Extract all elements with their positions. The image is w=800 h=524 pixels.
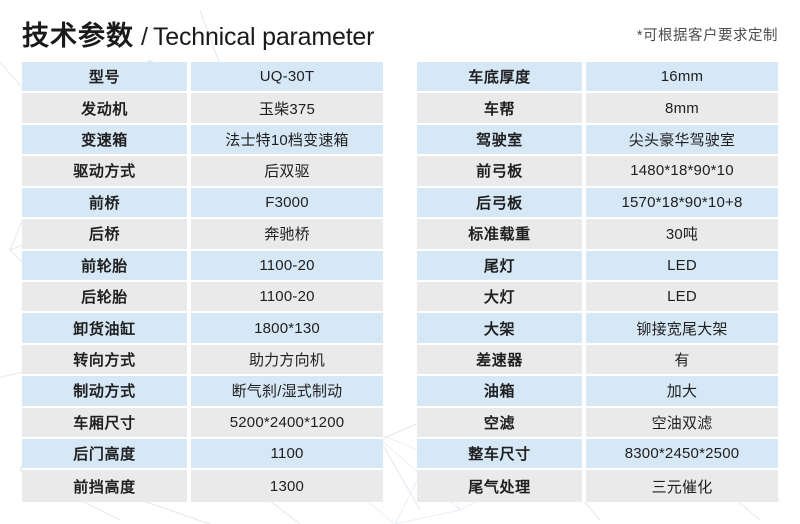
spec-label: 大架 xyxy=(417,313,586,344)
customization-note: *可根据客户要求定制 xyxy=(637,24,778,48)
spec-label: 尾灯 xyxy=(417,251,586,282)
table-row: 后桥奔驰桥 xyxy=(22,219,383,250)
table-row: 前轮胎1100-20 xyxy=(22,251,383,282)
table-row: 前挡高度1300 xyxy=(22,470,383,501)
page-title: 技术参数/Technical parameter xyxy=(22,14,374,63)
table-row: 尾灯LED xyxy=(417,251,778,282)
table-row: 前桥F3000 xyxy=(22,188,383,219)
spec-value: 1100-20 xyxy=(191,251,383,282)
spec-label: 前挡高度 xyxy=(22,470,191,501)
spec-value: 8mm xyxy=(586,93,778,124)
spec-label: 车帮 xyxy=(417,93,586,124)
spec-value: 铆接宽尾大架 xyxy=(586,313,778,344)
table-row: 变速箱法士特10档变速箱 xyxy=(22,125,383,156)
table-row: 驱动方式后双驱 xyxy=(22,156,383,187)
spec-value: 加大 xyxy=(586,376,778,407)
table-row: 标准载重30吨 xyxy=(417,219,778,250)
table-row: 空滤空油双滤 xyxy=(417,408,778,439)
spec-tables: 型号UQ-30T发动机玉柴375变速箱法士特10档变速箱驱动方式后双驱前桥F30… xyxy=(22,62,778,502)
spec-value: 1570*18*90*10+8 xyxy=(586,188,778,219)
spec-label: 制动方式 xyxy=(22,376,191,407)
spec-value: 1100 xyxy=(191,439,383,470)
spec-value: LED xyxy=(586,282,778,313)
spec-value: 有 xyxy=(586,345,778,376)
spec-value: 奔驰桥 xyxy=(191,219,383,250)
table-row: 车帮8mm xyxy=(417,93,778,124)
spec-label: 型号 xyxy=(22,62,191,93)
spec-label: 后桥 xyxy=(22,219,191,250)
spec-label: 转向方式 xyxy=(22,345,191,376)
spec-label: 标准载重 xyxy=(417,219,586,250)
spec-label: 变速箱 xyxy=(22,125,191,156)
spec-label: 后门高度 xyxy=(22,439,191,470)
table-row: 差速器有 xyxy=(417,345,778,376)
spec-table-left: 型号UQ-30T发动机玉柴375变速箱法士特10档变速箱驱动方式后双驱前桥F30… xyxy=(22,62,383,502)
spec-label: 油箱 xyxy=(417,376,586,407)
spec-value: 16mm xyxy=(586,62,778,93)
page-title-en: Technical parameter xyxy=(153,23,374,51)
spec-label: 后轮胎 xyxy=(22,282,191,313)
table-row: 油箱加大 xyxy=(417,376,778,407)
spec-value: 5200*2400*1200 xyxy=(191,408,383,439)
spec-value: F3000 xyxy=(191,188,383,219)
spec-value: 三元催化 xyxy=(586,470,778,501)
spec-label: 后弓板 xyxy=(417,188,586,219)
spec-label: 驾驶室 xyxy=(417,125,586,156)
spec-value: 8300*2450*2500 xyxy=(586,439,778,470)
table-row: 车底厚度16mm xyxy=(417,62,778,93)
spec-label: 车底厚度 xyxy=(417,62,586,93)
table-row: 型号UQ-30T xyxy=(22,62,383,93)
table-row: 车厢尺寸5200*2400*1200 xyxy=(22,408,383,439)
spec-value: 空油双滤 xyxy=(586,408,778,439)
table-row: 卸货油缸1800*130 xyxy=(22,313,383,344)
spec-value: 1100-20 xyxy=(191,282,383,313)
spec-value: 法士特10档变速箱 xyxy=(191,125,383,156)
spec-value: 断气刹/湿式制动 xyxy=(191,376,383,407)
spec-value: UQ-30T xyxy=(191,62,383,93)
spec-value: 后双驱 xyxy=(191,156,383,187)
spec-value: LED xyxy=(586,251,778,282)
page-title-separator: / xyxy=(134,23,153,51)
table-row: 驾驶室尖头豪华驾驶室 xyxy=(417,125,778,156)
spec-value: 1480*18*90*10 xyxy=(586,156,778,187)
table-row: 转向方式助力方向机 xyxy=(22,345,383,376)
table-row: 前弓板1480*18*90*10 xyxy=(417,156,778,187)
spec-label: 前轮胎 xyxy=(22,251,191,282)
table-row: 后门高度1100 xyxy=(22,439,383,470)
table-row: 整车尺寸8300*2450*2500 xyxy=(417,439,778,470)
spec-label: 大灯 xyxy=(417,282,586,313)
spec-table-right: 车底厚度16mm车帮8mm驾驶室尖头豪华驾驶室前弓板1480*18*90*10后… xyxy=(417,62,778,502)
table-row: 大灯LED xyxy=(417,282,778,313)
spec-label: 前弓板 xyxy=(417,156,586,187)
spec-label: 差速器 xyxy=(417,345,586,376)
spec-value: 玉柴375 xyxy=(191,93,383,124)
spec-label: 尾气处理 xyxy=(417,470,586,501)
spec-value: 尖头豪华驾驶室 xyxy=(586,125,778,156)
spec-label: 前桥 xyxy=(22,188,191,219)
page-title-cn: 技术参数 xyxy=(22,21,134,51)
spec-value: 助力方向机 xyxy=(191,345,383,376)
spec-value: 1300 xyxy=(191,470,383,501)
table-row: 尾气处理三元催化 xyxy=(417,470,778,501)
spec-label: 卸货油缸 xyxy=(22,313,191,344)
spec-label: 空滤 xyxy=(417,408,586,439)
spec-value: 30吨 xyxy=(586,219,778,250)
table-row: 发动机玉柴375 xyxy=(22,93,383,124)
spec-label: 发动机 xyxy=(22,93,191,124)
spec-label: 整车尺寸 xyxy=(417,439,586,470)
page-header: 技术参数/Technical parameter *可根据客户要求定制 xyxy=(22,14,778,58)
table-row: 后轮胎1100-20 xyxy=(22,282,383,313)
table-row: 大架铆接宽尾大架 xyxy=(417,313,778,344)
spec-label: 驱动方式 xyxy=(22,156,191,187)
table-row: 制动方式断气刹/湿式制动 xyxy=(22,376,383,407)
table-row: 后弓板1570*18*90*10+8 xyxy=(417,188,778,219)
spec-value: 1800*130 xyxy=(191,313,383,344)
spec-label: 车厢尺寸 xyxy=(22,408,191,439)
